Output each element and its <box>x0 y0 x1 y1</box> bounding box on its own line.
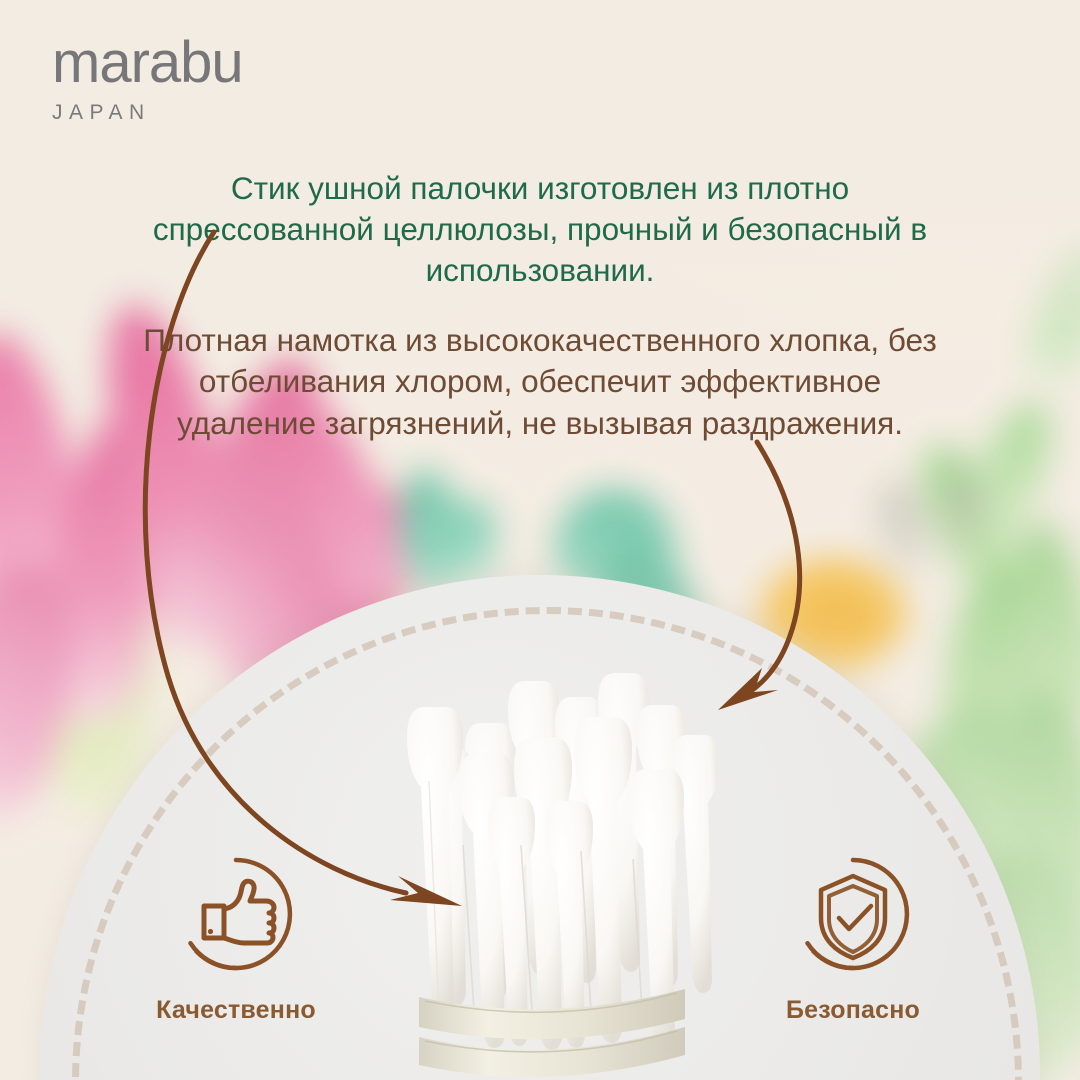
brown-description-text: Плотная намотка из высококачественного х… <box>140 320 940 444</box>
brand-country: JAPAN <box>52 101 243 125</box>
brand-logo: marabu JAPAN <box>52 34 243 125</box>
cotton-swab-bundle <box>385 645 715 1080</box>
feature-label: Безопасно <box>723 996 983 1025</box>
poster-canvas: marabu JAPAN <box>0 0 1080 1080</box>
green-description-text: Стик ушной палочки изготовлен из плотно … <box>150 168 930 291</box>
feature-label: Качественно <box>106 996 366 1025</box>
feature-safety: Безопасно <box>723 852 983 1025</box>
brand-name: marabu <box>52 34 243 92</box>
shield-check-icon <box>791 852 915 976</box>
feature-quality: Качественно <box>106 852 366 1025</box>
thumbs-up-icon <box>174 852 298 976</box>
